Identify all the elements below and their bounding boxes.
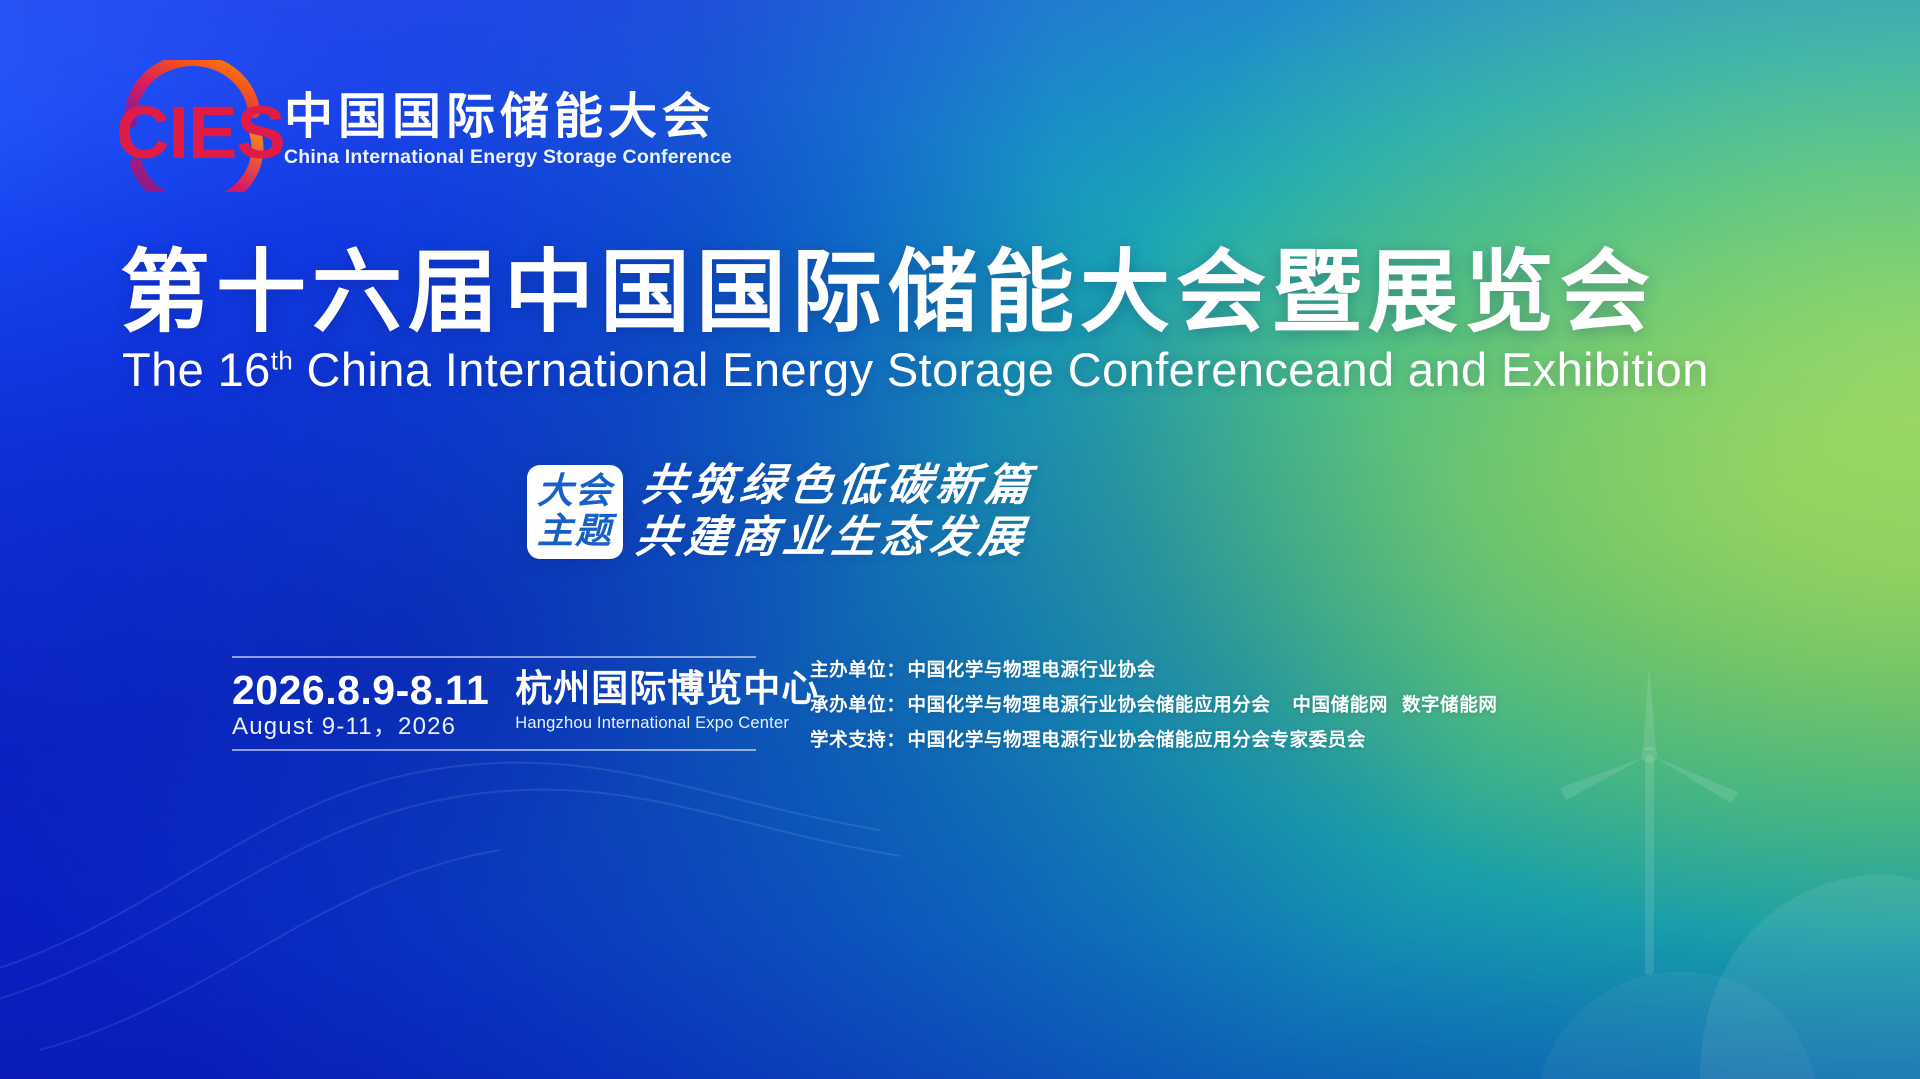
cies-logo-mark: CIES: [118, 60, 270, 192]
theme-line-2: 共建商业生态发展: [633, 512, 1031, 564]
theme-line-1: 共筑绿色低碳新篇: [639, 460, 1037, 512]
organizer-extra-2: 数字储能网: [1402, 695, 1498, 716]
organizer-value: 中国化学与物理电源行业协会储能应用分会: [908, 695, 1271, 716]
conference-theme: 大会 主题 共筑绿色低碳新篇 共建商业生态发展: [527, 460, 1031, 564]
cies-logo-name-en: China International Energy Storage Confe…: [284, 148, 732, 168]
organizer-row: 主办单位：中国化学与物理电源行业协会: [810, 660, 1497, 682]
event-date-en: August 9-11，2026: [232, 714, 489, 740]
organizer-value: 中国化学与物理电源行业协会: [908, 660, 1156, 681]
date-venue-block: 2026.8.9-8.11 August 9-11，2026 杭州国际博览中心 …: [232, 656, 756, 751]
event-venue-cn: 杭州国际博览中心: [515, 669, 819, 708]
theme-badge: 大会 主题: [527, 465, 623, 559]
cies-logo-name-cn: 中国国际储能大会: [284, 91, 732, 144]
title-en-rest: China International Energy Storage Confe…: [293, 343, 1709, 396]
theme-text: 共筑绿色低碳新篇 共建商业生态发展: [633, 460, 1038, 564]
cies-logo-acronym: CIES: [116, 96, 285, 170]
event-date-cn: 2026.8.9-8.11: [232, 669, 489, 712]
event-venue-en: Hangzhou International Expo Center: [515, 714, 819, 732]
organizer-extra-1: 中国储能网: [1292, 695, 1388, 716]
event-venue: 杭州国际博览中心 Hangzhou International Expo Cen…: [515, 669, 819, 732]
page-title-cn: 第十六届中国国际储能大会暨展览会: [120, 244, 1656, 341]
organizers-block: 主办单位：中国化学与物理电源行业协会 承办单位：中国化学与物理电源行业协会储能应…: [810, 660, 1497, 753]
title-en-prefix: The 16: [122, 343, 271, 396]
conference-poster: CIES 中国国际储能大会 China International Energy…: [0, 0, 1920, 1079]
theme-badge-line1: 大会: [537, 472, 613, 512]
event-date: 2026.8.9-8.11 August 9-11，2026: [232, 669, 489, 741]
organizer-row: 学术支持：中国化学与物理电源行业协会储能应用分会专家委员会: [810, 730, 1497, 752]
page-title-en: The 16th China International Energy Stor…: [122, 344, 1709, 397]
theme-badge-line2: 主题: [537, 512, 613, 552]
cies-logo[interactable]: CIES 中国国际储能大会 China International Energy…: [118, 60, 732, 192]
organizer-value: 中国化学与物理电源行业协会储能应用分会专家委员会: [908, 730, 1366, 751]
organizer-label: 承办单位：: [810, 695, 906, 716]
organizer-label: 学术支持：: [810, 730, 906, 751]
title-en-ordinal: th: [271, 347, 293, 375]
organizer-row: 承办单位：中国化学与物理电源行业协会储能应用分会中国储能网数字储能网: [810, 695, 1497, 717]
organizer-label: 主办单位：: [810, 660, 906, 681]
